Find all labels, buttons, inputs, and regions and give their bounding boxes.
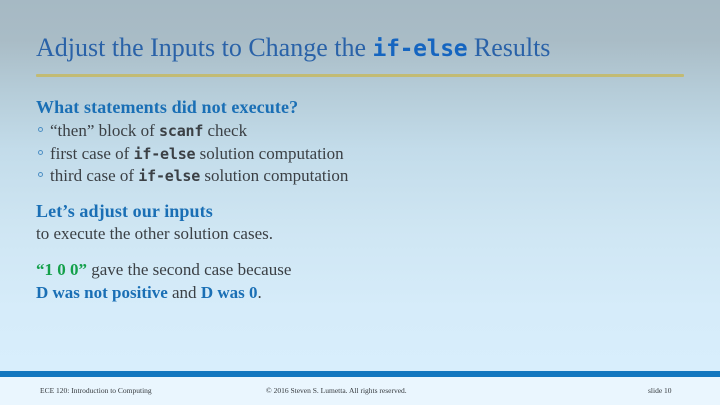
page-title-code: if-else [373, 36, 468, 62]
list-item-code: scanf [159, 122, 203, 140]
bullet-circle-icon [38, 172, 43, 177]
list-item: first case of if-else solution computati… [36, 143, 696, 166]
page-title: Adjust the Inputs to Change the if-else … [36, 32, 696, 65]
list-item-code: if-else [134, 145, 196, 163]
not-executed-list: “then” block of scanf check first case o… [36, 120, 696, 188]
footer-copyright: © 2016 Steven S. Lumetta. All rights res… [266, 386, 407, 395]
list-item-post: check [203, 121, 247, 140]
final-after-input: gave the second case because [87, 260, 291, 279]
list-item: “then” block of scanf check [36, 120, 696, 143]
list-item-post: solution computation [195, 144, 343, 163]
footer-slide-number: slide 10 [648, 386, 672, 395]
bullet-circle-icon [38, 150, 43, 155]
section-spacer [36, 188, 696, 200]
list-item: third case of if-else solution computati… [36, 165, 696, 188]
footer-course-label: ECE 120: Introduction to Computing [40, 386, 152, 395]
list-item-pre: “then” block of [50, 121, 159, 140]
condition-two: D was 0 [201, 283, 258, 302]
bullet-circle-icon [38, 127, 43, 132]
list-item-pre: third case of [50, 166, 138, 185]
page-title-part1: Adjust the Inputs to Change the [36, 33, 373, 62]
section-spacer [36, 245, 696, 258]
input-value-quoted: “1 0 0” [36, 260, 87, 279]
title-divider [36, 74, 684, 77]
adjust-subline: to execute the other solution cases. [36, 223, 696, 245]
final-conjunction: and [168, 283, 201, 302]
slide-body: What statements did not execute? “then” … [36, 96, 696, 304]
list-item-post: solution computation [200, 166, 348, 185]
final-period: . [257, 283, 261, 302]
condition-one: D was not positive [36, 283, 168, 302]
adjust-heading: Let’s adjust our inputs [36, 200, 696, 223]
question-heading: What statements did not execute? [36, 96, 696, 119]
list-item-code: if-else [138, 167, 200, 185]
page-title-part2: Results [467, 33, 550, 62]
final-explanation: “1 0 0” gave the second case because D w… [36, 258, 696, 304]
slide-canvas: Adjust the Inputs to Change the if-else … [0, 0, 720, 405]
list-item-pre: first case of [50, 144, 134, 163]
